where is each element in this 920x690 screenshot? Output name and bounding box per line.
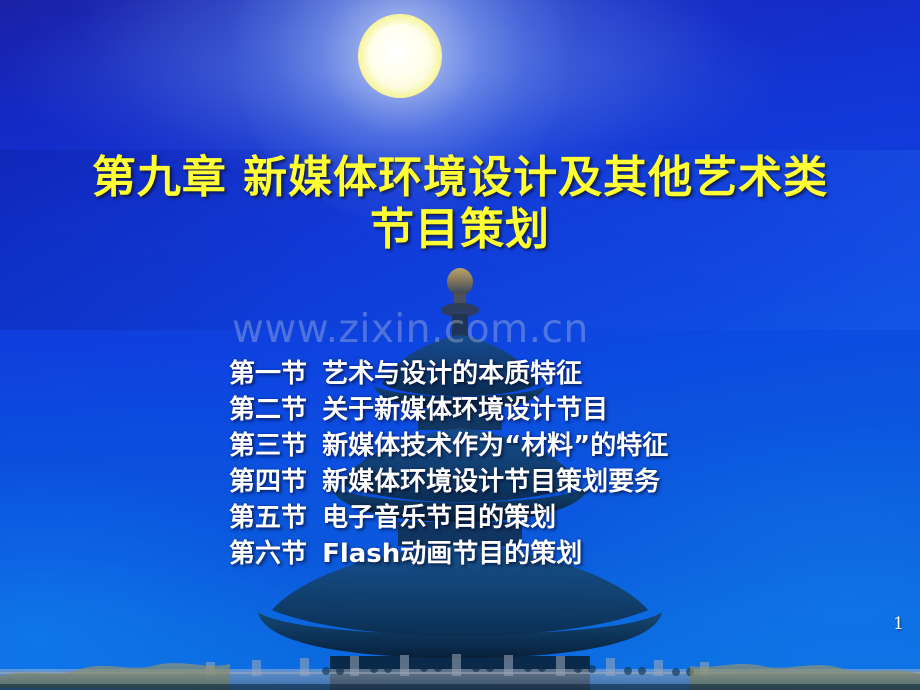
list-item: 第五节 电子音乐节目的策划 (229, 500, 889, 536)
section-text: 电子音乐节目的策划 (322, 503, 556, 533)
list-item: 第二节 关于新媒体环境设计节目 (229, 392, 889, 428)
list-item: 第四节 新媒体环境设计节目策划要务 (229, 464, 889, 500)
title-line-1: 第九章 新媒体环境设计及其他艺术类 (0, 152, 920, 204)
section-list: 第一节 艺术与设计的本质特征 第二节 关于新媒体环境设计节目 第三节 新媒体技术… (229, 356, 889, 572)
section-text: 关于新媒体环境设计节目 (322, 395, 608, 425)
temple-finial-icon (441, 268, 479, 336)
section-text: Flash动画节目的策划 (322, 539, 582, 569)
list-item: 第六节 Flash动画节目的策划 (229, 536, 889, 572)
presentation-slide: www.zixin.com.cn 第九章 新媒体环境设计及其他艺术类 节目策划 … (0, 0, 920, 690)
section-label: 第二节 (229, 395, 307, 425)
section-label: 第六节 (229, 539, 307, 569)
page-number: 1 (893, 614, 904, 634)
title-line-2: 节目策划 (0, 204, 920, 256)
list-item: 第三节 新媒体技术作为“材料”的特征 (229, 428, 889, 464)
page-title: 第九章 新媒体环境设计及其他艺术类 节目策划 (0, 152, 920, 256)
section-label: 第一节 (229, 359, 307, 389)
section-text: 新媒体技术作为“材料”的特征 (322, 431, 668, 461)
section-label: 第五节 (229, 503, 307, 533)
section-label: 第四节 (229, 467, 307, 497)
ground-line (0, 684, 920, 690)
list-item: 第一节 艺术与设计的本质特征 (229, 356, 889, 392)
section-text: 新媒体环境设计节目策划要务 (322, 467, 660, 497)
moon-icon (368, 24, 432, 88)
section-label: 第三节 (229, 431, 307, 461)
section-text: 艺术与设计的本质特征 (322, 359, 582, 389)
